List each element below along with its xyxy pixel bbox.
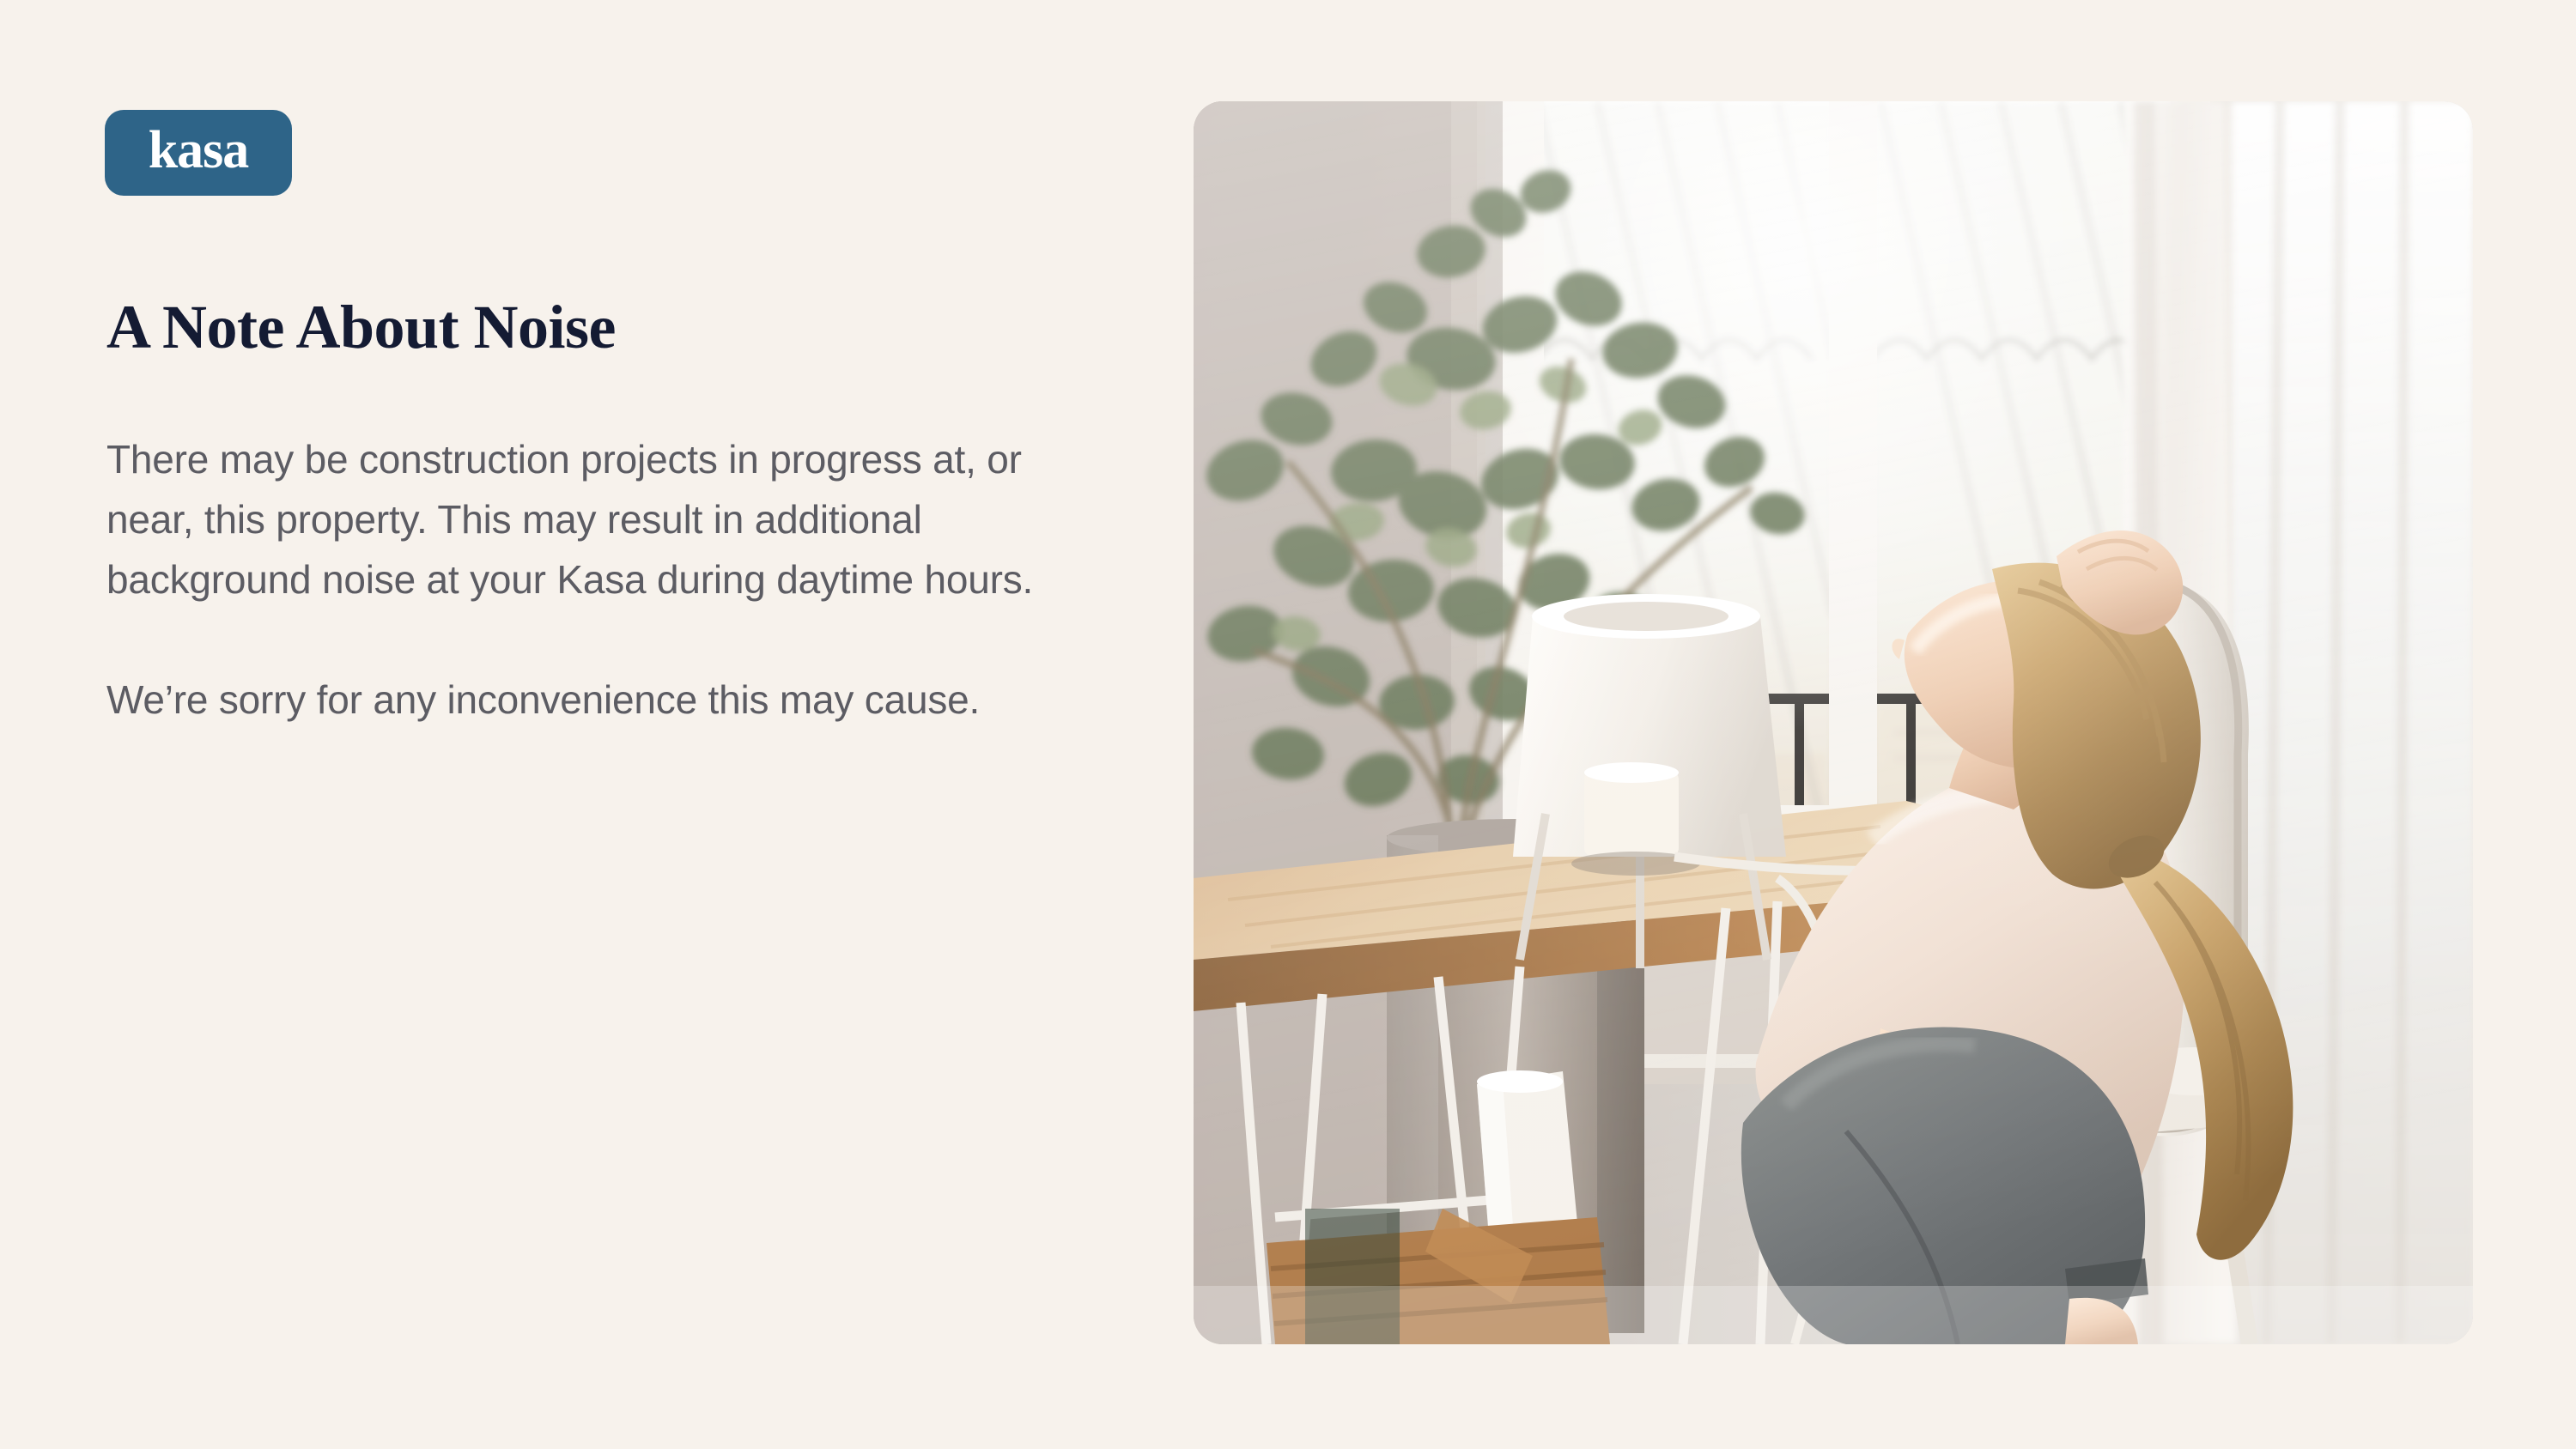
logo-text: kasa [149, 124, 249, 182]
page-title: A Note About Noise [106, 292, 616, 363]
content-panel: kasa A Note About Noise There may be con… [0, 0, 1194, 1449]
room-photo [1194, 101, 2473, 1344]
paragraph-apology: We’re sorry for any inconvenience this m… [106, 670, 1094, 730]
kasa-wordmark-logo[interactable]: kasa [105, 110, 292, 196]
body-copy: There may be construction projects in pr… [106, 429, 1120, 730]
paragraph-construction-notice: There may be construction projects in pr… [106, 429, 1094, 609]
room-photo-illustration [1194, 101, 2473, 1344]
